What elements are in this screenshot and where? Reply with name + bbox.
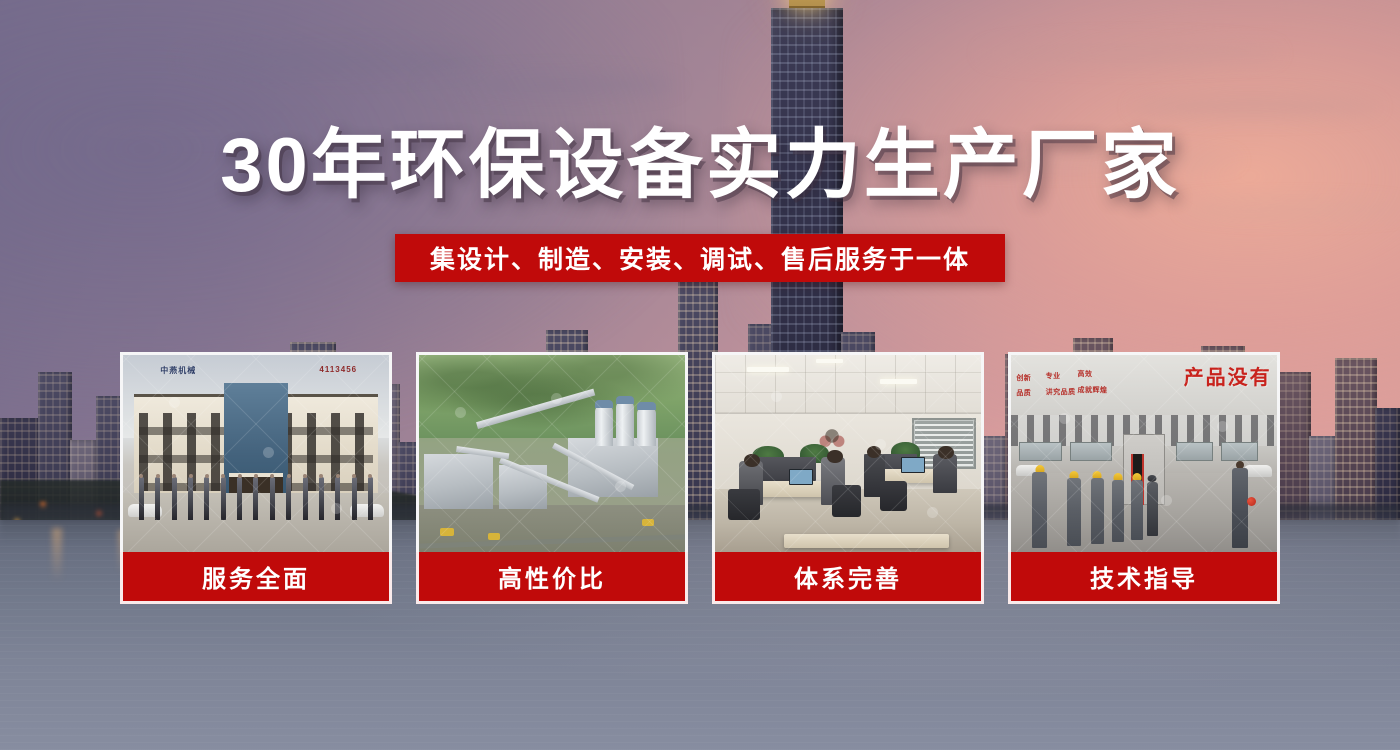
card-caption-text: 高性价比 — [498, 559, 606, 594]
feature-card-system[interactable]: 体系完善 — [712, 352, 984, 604]
feature-card-guidance[interactable]: 产品没有 创新 专业 高效 品质 讲究品质 成就辉煌 — [1008, 352, 1280, 604]
office-building-staff-photo: 中燕机械 4113456 — [120, 352, 392, 552]
building-phone-number: 4113456 — [319, 365, 357, 374]
workers-training-photo: 产品没有 创新 专业 高效 品质 讲究品质 成就辉煌 — [1008, 352, 1280, 552]
banner-subtitle-text: 集设计、制造、安装、调试、售后服务于一体 — [430, 240, 970, 276]
red-helmet-icon — [1247, 497, 1256, 506]
feature-card-caption-system: 体系完善 — [712, 552, 984, 604]
building-sign-text: 中燕机械 — [160, 365, 196, 376]
card-caption-text: 服务全面 — [202, 559, 310, 594]
card-caption-text: 技术指导 — [1090, 559, 1198, 594]
banner-subtitle-bar: 集设计、制造、安装、调试、售后服务于一体 — [395, 234, 1005, 282]
banner-headline: 30年环保设备实力生产厂家 — [0, 128, 1400, 204]
wall-slogan-3: 高效 — [1078, 369, 1093, 379]
wall-slogan-6: 成就辉煌 — [1078, 385, 1108, 395]
wall-slogan-1: 创新 — [1016, 373, 1031, 383]
banner-stage: 30年环保设备实力生产厂家 集设计、制造、安装、调试、售后服务于一体 中燕机械 … — [0, 0, 1400, 750]
feature-card-caption-service: 服务全面 — [120, 552, 392, 604]
feature-card-value[interactable]: 高性价比 — [416, 352, 688, 604]
cloud-1 — [180, 46, 480, 76]
tower-lit-crown — [789, 0, 825, 8]
feature-card-caption-value: 高性价比 — [416, 552, 688, 604]
factory-wall-text: 产品没有 — [1184, 361, 1272, 390]
office-interior-photo — [712, 352, 984, 552]
feature-card-service[interactable]: 中燕机械 4113456 — [120, 352, 392, 604]
cloud-4 — [1130, 96, 1380, 118]
card-caption-text: 体系完善 — [794, 559, 902, 594]
wall-slogan-5: 讲究品质 — [1046, 387, 1076, 397]
cloud-3 — [980, 40, 1280, 66]
feature-card-caption-guidance: 技术指导 — [1008, 552, 1280, 604]
wall-slogan-2: 专业 — [1046, 371, 1061, 381]
feature-card-row: 中燕机械 4113456 — [120, 352, 1280, 604]
aerial-plant-photo — [416, 352, 688, 552]
cloud-2 — [420, 72, 680, 98]
wall-slogan-4: 品质 — [1016, 388, 1031, 398]
